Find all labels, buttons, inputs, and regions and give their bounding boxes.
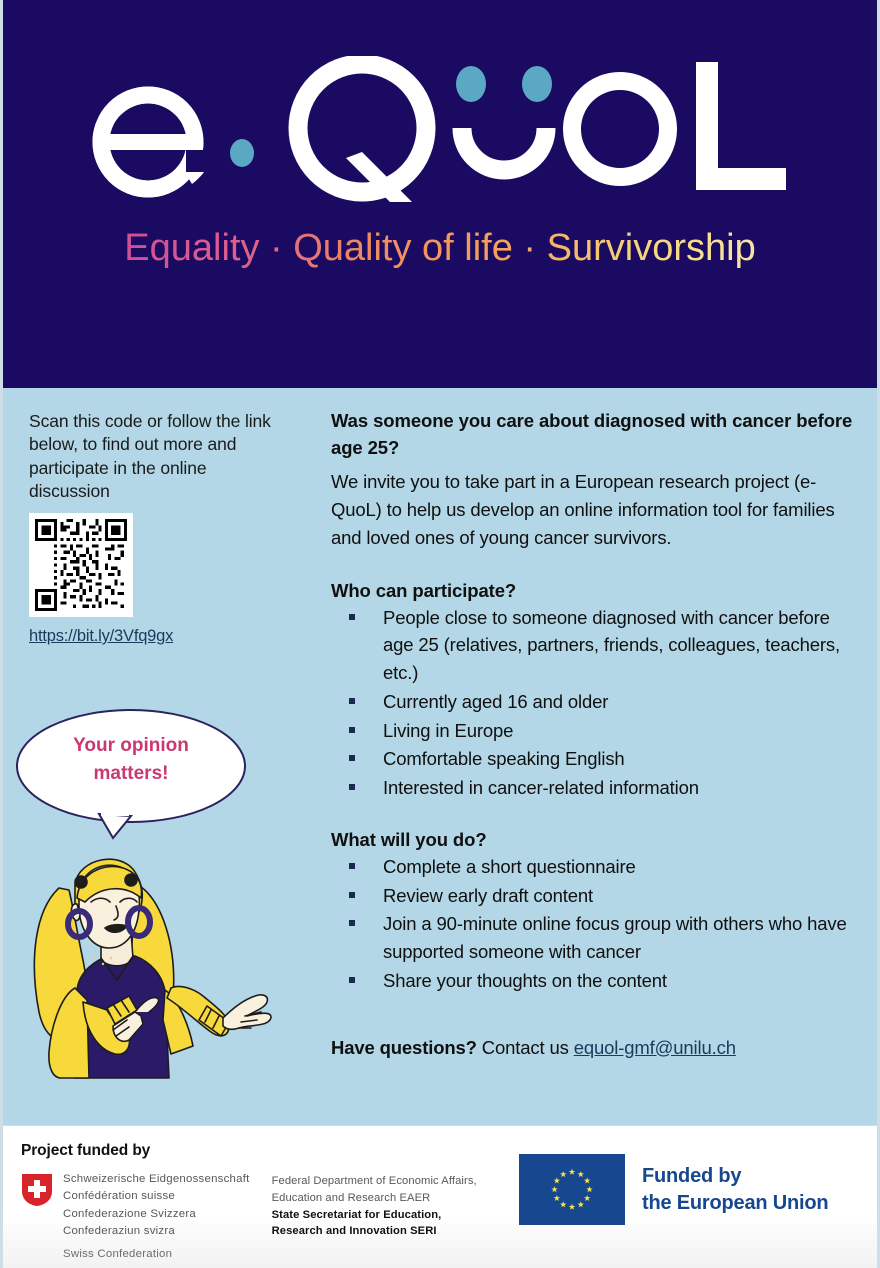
list-item-label: Complete a short questionnaire	[383, 856, 636, 877]
list-item: Living in Europe	[331, 717, 853, 745]
what-will-you-do-heading: What will you do?	[331, 829, 853, 851]
list-item: Currently aged 16 and older	[331, 688, 853, 716]
list-item-label: Currently aged 16 and older	[383, 691, 608, 712]
left-column: Scan this code or follow the link below,…	[3, 388, 315, 1125]
header-banner: Equality · Quality of life · Survivorshi…	[3, 0, 877, 388]
eu-funding-text: Funded by the European Union	[642, 1163, 828, 1216]
qr-code-image	[35, 519, 127, 611]
main-content: Was someone you care about diagnosed wit…	[315, 388, 877, 1125]
list-item: Interested in cancer-related information	[331, 774, 853, 802]
equol-logo	[90, 56, 790, 216]
list-item-label: People close to someone diagnosed with c…	[383, 607, 840, 684]
seri-department-text: Federal Department of Economic Affairs, …	[272, 1173, 477, 1240]
bullet-icon	[349, 698, 355, 704]
footer: Project funded by Schweizerische Eidgeno…	[3, 1125, 877, 1268]
list-item-label: Share your thoughts on the content	[383, 970, 667, 991]
list-item: Join a 90-minute online focus group with…	[331, 910, 853, 966]
swiss-name-rm: Confederaziun svizra	[63, 1223, 250, 1240]
swiss-name-de: Schweizerische Eidgenossenschaft	[63, 1171, 250, 1188]
list-item: Complete a short questionnaire	[331, 853, 853, 881]
list-item: Review early draft content	[331, 882, 853, 910]
swiss-shield-icon	[21, 1173, 53, 1207]
who-can-participate-heading: Who can participate?	[331, 580, 853, 602]
body-area: Scan this code or follow the link below,…	[3, 388, 877, 1125]
contact-label: Have questions?	[331, 1037, 477, 1058]
eu-line-2: the European Union	[642, 1190, 828, 1216]
swiss-name-fr: Confédération suisse	[63, 1188, 250, 1205]
who-can-participate-list: People close to someone diagnosed with c…	[331, 604, 853, 802]
bullet-icon	[349, 614, 355, 620]
seri-line-4: Research and Innovation SERI	[272, 1223, 477, 1240]
list-item: People close to someone diagnosed with c…	[331, 604, 853, 687]
european-union-logo: Funded by the European Union	[519, 1154, 828, 1225]
intro-paragraph: We invite you to take part in a European…	[331, 468, 853, 553]
eu-flag-icon	[519, 1154, 625, 1225]
contact-line: Have questions? Contact us equol-gmf@uni…	[331, 1037, 853, 1059]
seri-line-3: State Secretariat for Education,	[272, 1207, 477, 1224]
speech-bubble: Your opinion matters!	[13, 706, 263, 836]
bullet-icon	[349, 784, 355, 790]
logo-eye-right	[522, 66, 552, 102]
contact-prefix: Contact us	[477, 1037, 574, 1058]
bullet-icon	[349, 892, 355, 898]
bullet-icon	[349, 977, 355, 983]
swiss-name-it: Confederazione Svizzera	[63, 1206, 250, 1223]
swiss-confederation-label: Swiss Confederation	[63, 1248, 172, 1260]
logo-block: Equality · Quality of life · Survivorshi…	[3, 56, 877, 276]
swiss-confederation-names: Schweizerische Eidgenossenschaft Confédé…	[63, 1171, 250, 1240]
illustration-svg	[17, 840, 295, 1080]
logo-tagline: Equality · Quality of life · Survivorshi…	[90, 220, 790, 276]
scan-instructions: Scan this code or follow the link below,…	[29, 410, 281, 503]
list-item: Share your thoughts on the content	[331, 967, 853, 995]
bullet-icon	[349, 920, 355, 926]
bullet-icon	[349, 727, 355, 733]
list-item: Comfortable speaking English	[331, 745, 853, 773]
list-item-label: Comfortable speaking English	[383, 748, 625, 769]
seri-line-1: Federal Department of Economic Affairs,	[272, 1173, 477, 1190]
survey-link[interactable]: https://bit.ly/3Vfq9gx	[29, 627, 173, 646]
seri-line-2: Education and Research EAER	[272, 1190, 477, 1207]
list-item-label: Interested in cancer-related information	[383, 777, 699, 798]
speech-bubble-shape	[13, 706, 263, 841]
logo-dot-small	[230, 139, 254, 167]
swiss-confederation-logo: Schweizerische Eidgenossenschaft Confédé…	[21, 1171, 250, 1240]
tagline-label: Equality · Quality of life · Survivorshi…	[124, 227, 755, 269]
bullet-icon	[349, 863, 355, 869]
qr-code[interactable]	[29, 513, 133, 617]
contact-email-link[interactable]: equol-gmf@unilu.ch	[574, 1037, 736, 1058]
logo-eye-left	[456, 66, 486, 102]
list-item-label: Join a 90-minute online focus group with…	[383, 913, 847, 962]
headline: Was someone you care about diagnosed wit…	[331, 408, 853, 462]
what-will-you-do-list: Complete a short questionnaire Review ea…	[331, 853, 853, 995]
poster-root: Equality · Quality of life · Survivorshi…	[0, 0, 880, 1268]
list-item-label: Living in Europe	[383, 720, 513, 741]
eu-line-1: Funded by	[642, 1163, 828, 1189]
bullet-icon	[349, 755, 355, 761]
list-item-label: Review early draft content	[383, 885, 593, 906]
woman-pointing-illustration	[17, 840, 295, 1080]
